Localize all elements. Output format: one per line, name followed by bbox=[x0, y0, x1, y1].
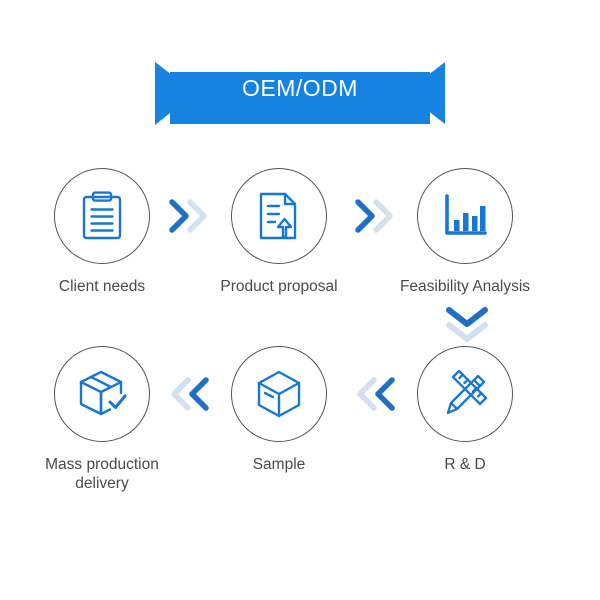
icon-circle bbox=[54, 346, 150, 442]
flow-row-bottom: Mass production delivery bbox=[0, 346, 600, 524]
flow-row-top: Client needs bbox=[0, 168, 600, 346]
double-chevron-down-icon bbox=[440, 304, 494, 344]
bar-chart-icon bbox=[441, 193, 489, 239]
flow-node-label: Sample bbox=[194, 455, 364, 474]
clipboard-icon bbox=[79, 191, 125, 241]
flow-node-label: Product proposal bbox=[194, 277, 364, 296]
flow-node-mass-production-delivery[interactable]: Mass production delivery bbox=[17, 346, 187, 494]
flow-node-product-proposal[interactable]: Product proposal bbox=[194, 168, 364, 296]
icon-circle bbox=[417, 346, 513, 442]
document-upload-icon bbox=[255, 191, 303, 241]
icon-circle bbox=[417, 168, 513, 264]
flow-node-client-needs[interactable]: Client needs bbox=[17, 168, 187, 296]
icon-circle bbox=[231, 168, 327, 264]
flow-node-feasibility-analysis[interactable]: Feasibility Analysis bbox=[380, 168, 550, 296]
ribbon-body-top bbox=[170, 72, 430, 102]
process-flow: Client needs bbox=[0, 168, 600, 524]
flow-node-label: R & D bbox=[380, 455, 550, 474]
icon-circle bbox=[231, 346, 327, 442]
flow-node-label: Client needs bbox=[17, 277, 187, 296]
box-outline-icon bbox=[254, 369, 304, 419]
box-check-icon bbox=[76, 369, 128, 419]
flow-node-label: Mass production delivery bbox=[17, 455, 187, 494]
banner-ribbon-shape bbox=[0, 62, 600, 134]
icon-circle bbox=[54, 168, 150, 264]
banner-ribbon bbox=[0, 62, 600, 134]
flow-node-label: Feasibility Analysis bbox=[380, 277, 550, 296]
flow-node-rd[interactable]: R & D bbox=[380, 346, 550, 474]
pencil-ruler-icon bbox=[440, 369, 490, 419]
flow-node-sample[interactable]: Sample bbox=[194, 346, 364, 474]
